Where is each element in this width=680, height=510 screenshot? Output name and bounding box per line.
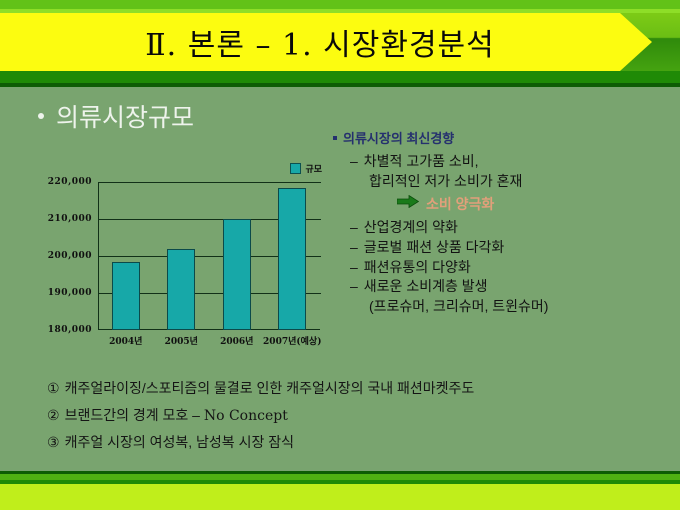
chart-y-tick-label: 180,000 — [22, 325, 92, 335]
list-item-continuation: (프로슈머, 크리슈머, 트윈슈머) — [333, 297, 673, 317]
chart-x-tick-label: 2004년 — [109, 334, 142, 347]
chart-bar — [112, 262, 140, 330]
chart-y-tick-label: 200,000 — [22, 251, 92, 261]
conclusions-list: ①캐주얼라이징/스포티즘의 물결로 인한 캐주얼시장의 국내 패션마켓주도 ②브… — [47, 381, 657, 462]
square-bullet-icon — [333, 136, 337, 140]
trends-heading: 의류시장의 최신경향 — [333, 128, 673, 147]
chart-legend: 규모 — [290, 162, 322, 175]
chart-bar — [167, 249, 195, 330]
chart-y-tick-label: 220,000 — [22, 177, 92, 187]
list-item-label: 산업경계의 약화 — [364, 218, 458, 238]
right-arrow-icon — [397, 195, 419, 213]
list-item: – 패션유통의 다양화 — [333, 258, 673, 278]
dash-marker: – — [350, 277, 358, 297]
trends-panel: 의류시장의 최신경향 – 차별적 고가품 소비, 합리적인 저가 소비가 혼재 … — [333, 128, 673, 317]
list-item-label: 패션유통의 다양화 — [364, 258, 471, 278]
emphasis-row: 소비 양극화 — [333, 194, 673, 214]
bullet-dot-icon — [38, 113, 44, 119]
dash-marker: – — [350, 218, 358, 238]
list-item-label: 차별적 고가품 소비, — [364, 152, 479, 172]
chart-y-tick-label: 190,000 — [22, 288, 92, 298]
list-item-label: 캐주얼 시장의 여성복, 남성복 시장 잠식 — [65, 434, 294, 450]
chart-x-tick-label: 2005년 — [165, 334, 198, 347]
chart-x-tick-label: 2007년(예상) — [263, 334, 321, 347]
list-item-label: 새로운 소비계층 발생 — [364, 277, 488, 297]
chart-bar — [223, 219, 251, 330]
legend-label: 규모 — [305, 162, 322, 175]
bottom-stripe-lime — [0, 484, 680, 510]
chart-bar — [278, 188, 306, 330]
list-item: – 차별적 고가품 소비, — [333, 152, 673, 172]
list-item-label: 브랜드간의 경계 모호 – — [65, 407, 204, 423]
slide-canvas: Ⅱ. 본론 – 1. 시장환경분석 의류시장규모 규모 180,000190,0… — [0, 0, 680, 510]
list-item: ①캐주얼라이징/스포티즘의 물결로 인한 캐주얼시장의 국내 패션마켓주도 — [47, 381, 657, 396]
chart-x-tick-label: 2006년 — [220, 334, 253, 347]
list-item: ③캐주얼 시장의 여성복, 남성복 시장 잠식 — [47, 435, 657, 450]
top-stripe-bright — [0, 0, 680, 9]
list-item-label: 캐주얼라이징/스포티즘의 물결로 인한 캐주얼시장의 국내 패션마켓주도 — [65, 380, 475, 396]
emphasis-label: 소비 양극화 — [426, 194, 494, 214]
chart-y-tick-label: 210,000 — [22, 214, 92, 224]
list-item-continuation: 합리적인 저가 소비가 혼재 — [333, 172, 673, 192]
trends-heading-label: 의류시장의 최신경향 — [343, 128, 454, 147]
chart-bars — [98, 182, 320, 330]
section-heading-label: 의류시장규모 — [56, 98, 194, 134]
list-item-label: 글로벌 패션 상품 다각화 — [364, 238, 504, 258]
page-title: Ⅱ. 본론 – 1. 시장환경분석 — [0, 13, 640, 71]
list-item-number: ③ — [47, 434, 60, 450]
list-item: ②브랜드간의 경계 모호 – No Concept — [47, 408, 657, 423]
banner-underline-green — [0, 71, 680, 83]
list-item: – 새로운 소비계층 발생 — [333, 277, 673, 297]
list-item-number: ② — [47, 407, 60, 423]
banner-underline-dark — [0, 83, 680, 87]
dash-marker: – — [350, 152, 358, 172]
list-item: – 산업경계의 약화 — [333, 218, 673, 238]
legend-swatch-icon — [290, 163, 301, 174]
list-item-number: ① — [47, 380, 60, 396]
dash-marker: – — [350, 258, 358, 278]
market-size-bar-chart: 규모 180,000190,000200,000210,000220,000 2… — [36, 162, 328, 360]
list-item: – 글로벌 패션 상품 다각화 — [333, 238, 673, 258]
list-item-tail: No Concept — [204, 408, 288, 424]
dash-marker: – — [350, 238, 358, 258]
section-heading: 의류시장규모 — [38, 98, 194, 134]
